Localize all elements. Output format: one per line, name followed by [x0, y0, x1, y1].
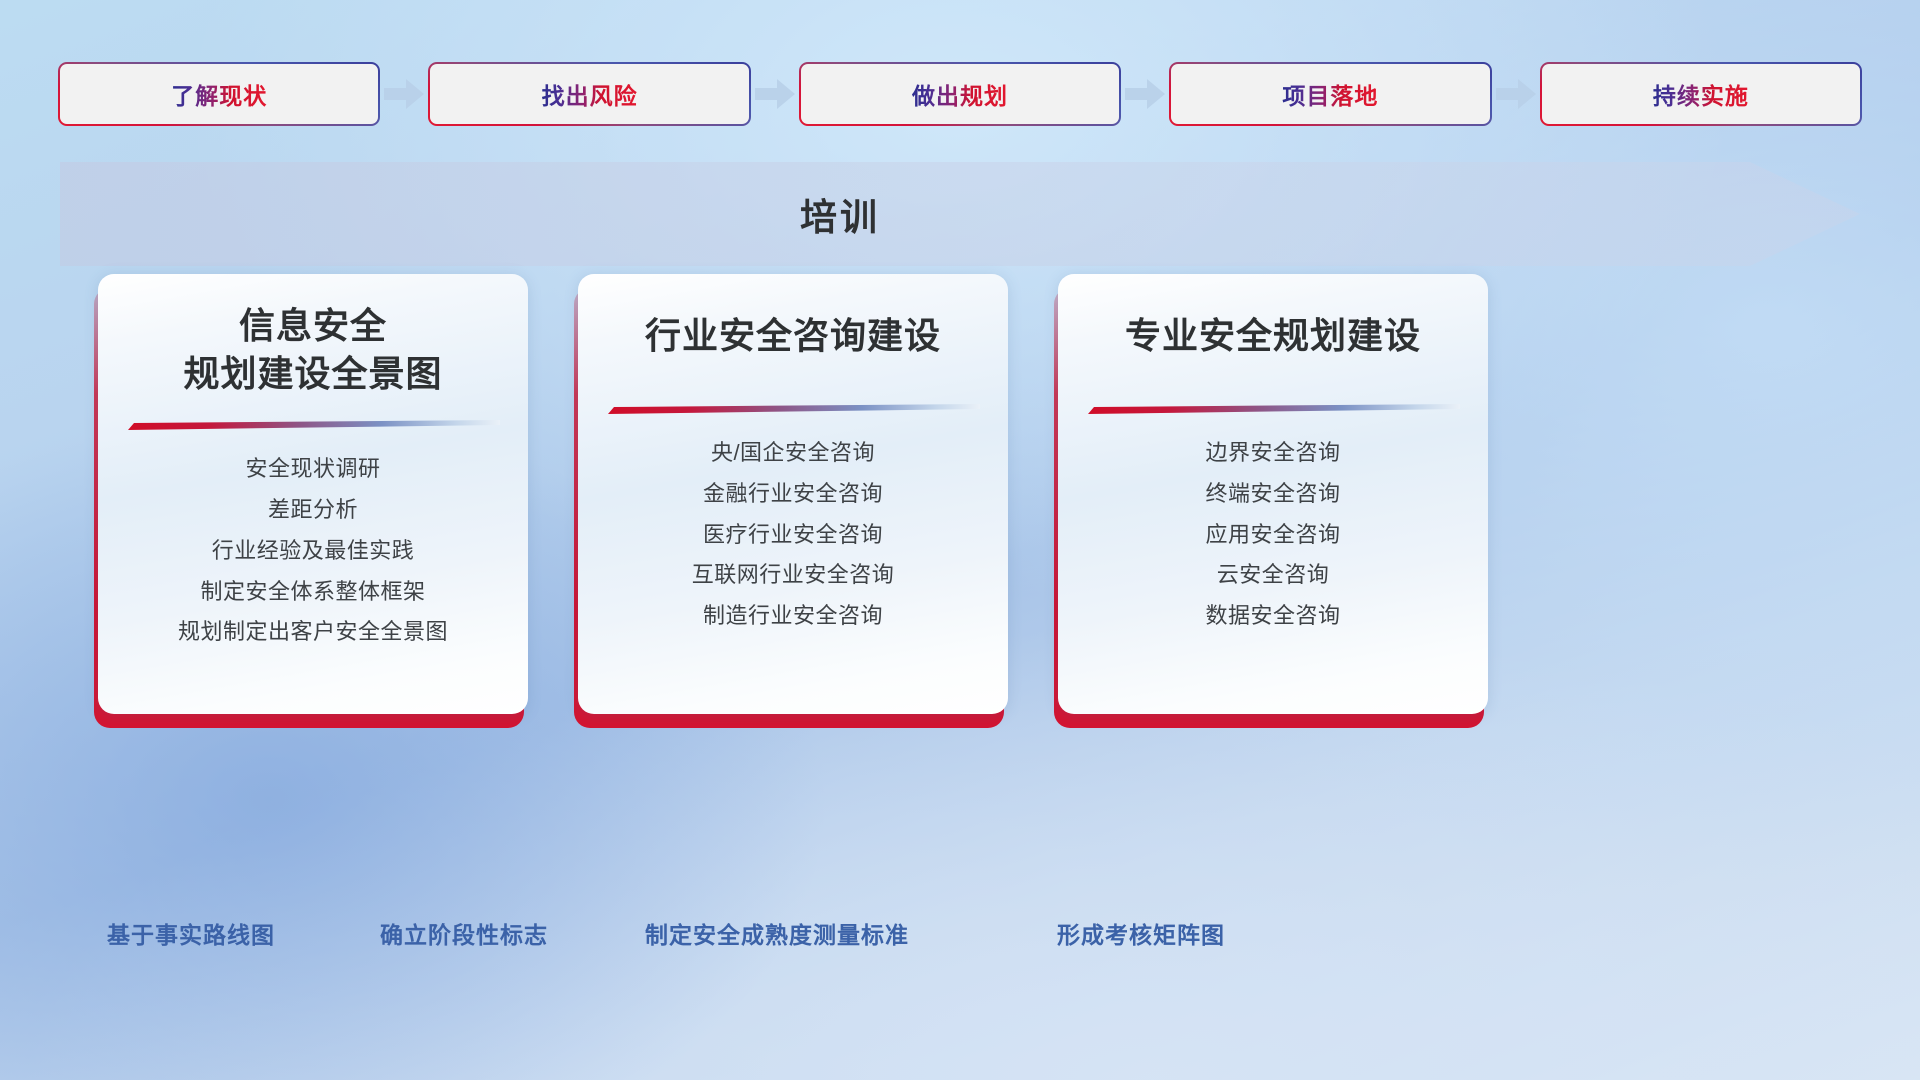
card-list-item: 互联网行业安全咨询 — [692, 560, 895, 590]
arrow-right-icon — [1119, 64, 1171, 124]
step-box[interactable]: 了解现状 — [60, 64, 378, 124]
card-list-item: 制定安全体系整体框架 — [200, 577, 425, 607]
card-item-list: 央/国企安全咨询 金融行业安全咨询 医疗行业安全咨询 互联网行业安全咨询 制造行… — [578, 438, 1008, 630]
bottom-label: 基于事实路线图 — [107, 916, 275, 950]
bottom-label: 确立阶段性标志 — [380, 916, 548, 950]
step-box[interactable]: 做出规划 — [801, 64, 1119, 124]
arrow-right-icon — [1490, 64, 1542, 124]
training-banner: 培训 — [60, 162, 1860, 266]
info-card[interactable]: 专业安全规划建设 — [1054, 274, 1484, 714]
card-list-item: 云安全咨询 — [1217, 560, 1330, 590]
step-label: 项目落地 — [1282, 77, 1378, 111]
card-title-line1: 行业安全咨询建设 — [578, 312, 1008, 360]
card-list-item: 数据安全咨询 — [1205, 601, 1340, 631]
step-item-2[interactable]: 做出规划 — [801, 64, 1119, 124]
card-list-item: 制造行业安全咨询 — [703, 601, 883, 631]
bottom-label-row: 基于事实路线图 确立阶段性标志 制定安全成熟度测量标准 形成考核矩阵图 — [0, 916, 1920, 966]
step-item-4[interactable]: 持续实施 — [1542, 64, 1860, 124]
arrow-right-icon — [378, 64, 430, 124]
process-step-row: 了解现状 找出风险 做出规划 项目落地 持续实施 — [60, 64, 1860, 124]
card-list-item: 应用安全咨询 — [1205, 520, 1340, 550]
card-list-item: 医疗行业安全咨询 — [703, 520, 883, 550]
card-body[interactable]: 信息安全 规划建设全景图 — [98, 274, 528, 714]
arrow-right-icon — [749, 64, 801, 124]
step-box[interactable]: 持续实施 — [1542, 64, 1860, 124]
card-title-line2: 规划建设全景图 — [98, 350, 528, 398]
card-title-line1: 信息安全 — [98, 302, 528, 350]
card-title: 专业安全规划建设 — [1058, 312, 1488, 360]
card-title: 行业安全咨询建设 — [578, 312, 1008, 360]
step-item-1[interactable]: 找出风险 — [430, 64, 748, 124]
banner-title: 培训 — [60, 162, 1620, 266]
card-list-item: 金融行业安全咨询 — [703, 479, 883, 509]
card-body[interactable]: 行业安全咨询建设 — [578, 274, 1008, 714]
bottom-label: 形成考核矩阵图 — [1057, 916, 1225, 950]
card-divider — [606, 404, 980, 416]
card-item-list: 安全现状调研 差距分析 行业经验及最佳实践 制定安全体系整体框架 规划制定出客户… — [98, 454, 528, 646]
step-label: 持续实施 — [1653, 77, 1749, 111]
card-body[interactable]: 专业安全规划建设 — [1058, 274, 1488, 714]
info-card[interactable]: 行业安全咨询建设 — [574, 274, 1004, 714]
card-list-item: 差距分析 — [268, 495, 358, 525]
step-item-0[interactable]: 了解现状 — [60, 64, 378, 124]
card-title-line1: 专业安全规划建设 — [1058, 312, 1488, 360]
card-title: 信息安全 规划建设全景图 — [98, 302, 528, 398]
info-card[interactable]: 信息安全 规划建设全景图 — [94, 274, 524, 714]
step-label: 找出风险 — [542, 77, 638, 111]
card-list-item: 央/国企安全咨询 — [711, 438, 875, 468]
card-list-item: 规划制定出客户安全全景图 — [178, 617, 448, 647]
card-list-item: 安全现状调研 — [245, 454, 380, 484]
card-list-item: 终端安全咨询 — [1205, 479, 1340, 509]
card-divider — [1086, 404, 1460, 416]
card-list-item: 行业经验及最佳实践 — [212, 536, 415, 566]
card-row: 信息安全 规划建设全景图 — [94, 274, 1534, 714]
step-label: 了解现状 — [171, 77, 267, 111]
step-label: 做出规划 — [912, 77, 1008, 111]
step-item-3[interactable]: 项目落地 — [1171, 64, 1489, 124]
card-item-list: 边界安全咨询 终端安全咨询 应用安全咨询 云安全咨询 数据安全咨询 — [1058, 438, 1488, 630]
bottom-label: 制定安全成熟度测量标准 — [645, 916, 909, 950]
step-box[interactable]: 项目落地 — [1171, 64, 1489, 124]
step-box[interactable]: 找出风险 — [430, 64, 748, 124]
card-divider — [126, 420, 500, 432]
card-list-item: 边界安全咨询 — [1205, 438, 1340, 468]
